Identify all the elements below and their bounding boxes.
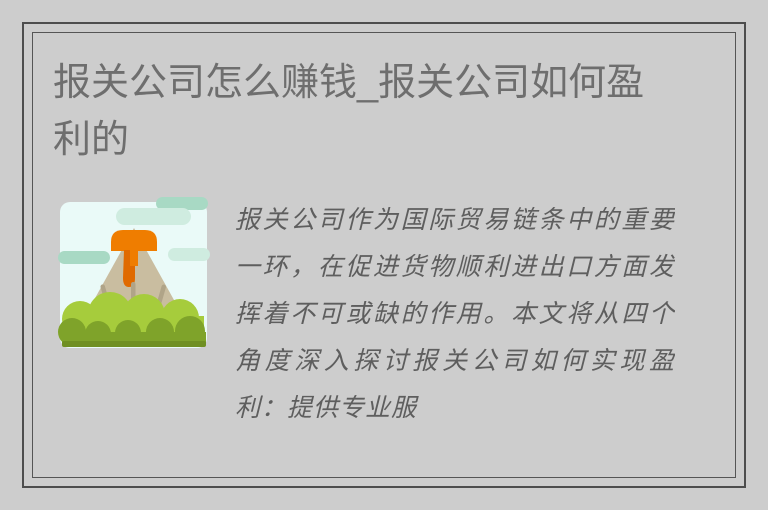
page-title: 报关公司怎么赚钱_报关公司如何盈利的 [53,55,678,169]
article-excerpt: 报关公司作为国际贸易链条中的重要一环，在促进货物顺利进出口方面发挥着不可或缺的作… [235,196,675,474]
article-card: 报关公司怎么赚钱_报关公司如何盈利的 [32,32,736,478]
volcano-icon [58,196,210,354]
article-thumbnail[interactable] [58,196,210,354]
page-root: 报关公司怎么赚钱_报关公司如何盈利的 [0,0,768,510]
article-content-row: 报关公司作为国际贸易链条中的重要一环，在促进货物顺利进出口方面发挥着不可或缺的作… [33,196,736,477]
